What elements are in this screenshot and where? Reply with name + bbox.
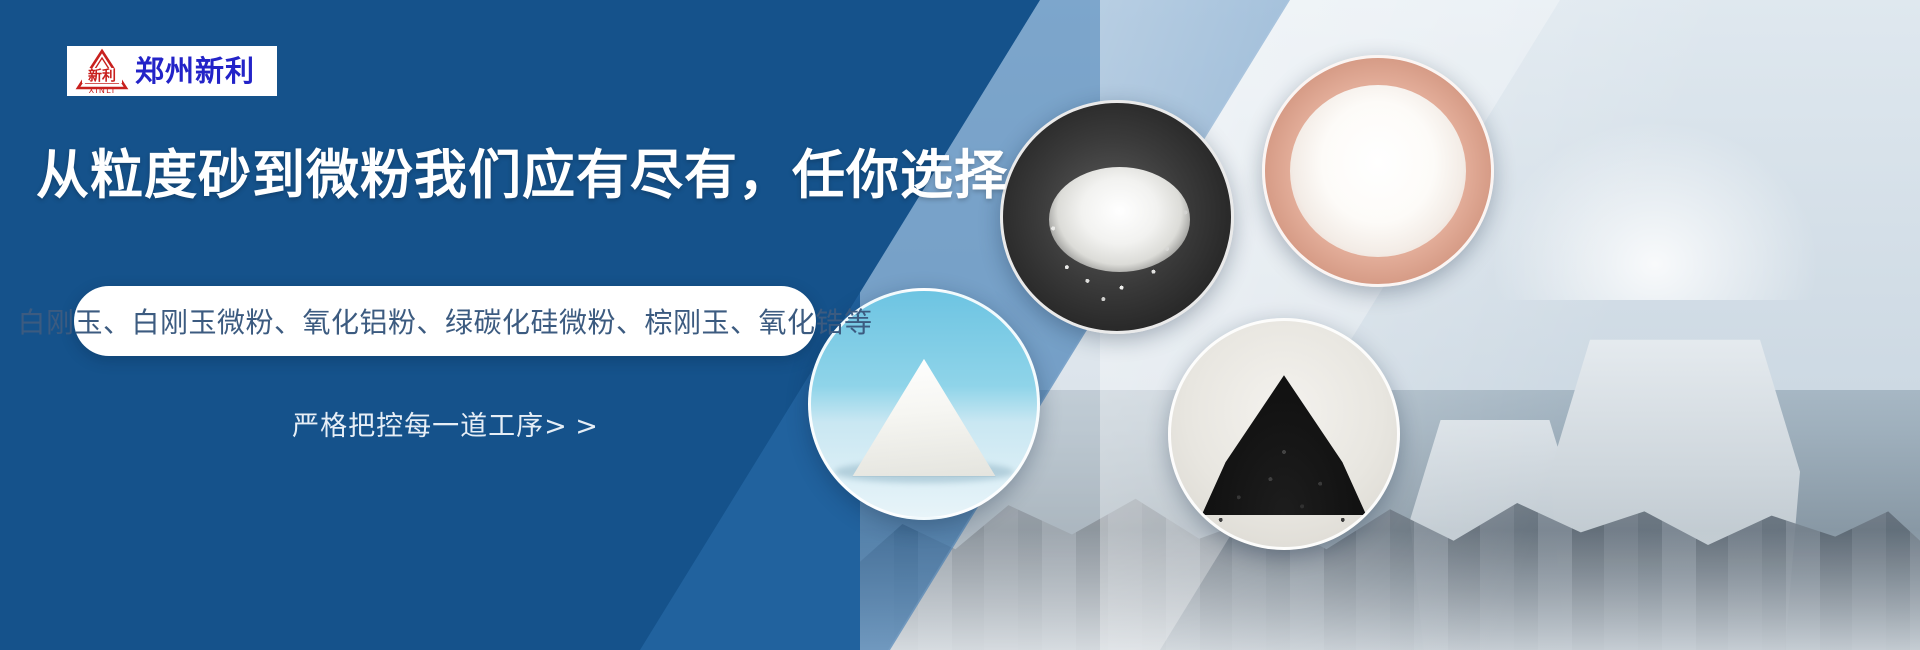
- page-title: 从粒度砂到微粉我们应有尽有，任你选择: [36, 146, 1008, 205]
- product-photo-white-powder-in-dish: [1262, 55, 1494, 287]
- tagline-arrows-icon: > >: [544, 411, 598, 442]
- svg-text:XINLI: XINLI: [89, 86, 116, 94]
- company-logo[interactable]: 新利 XINLI 郑州新利: [67, 46, 277, 96]
- xinli-triangle-mark-icon: 新利 XINLI: [75, 48, 129, 94]
- product-photo-black-granules-heap: [1168, 318, 1400, 550]
- granule-specks: [1003, 103, 1231, 331]
- black-granule-texture: [1171, 321, 1397, 547]
- logo-company-name: 郑州新利: [135, 57, 255, 86]
- powder-heap: [1290, 85, 1466, 257]
- promo-banner: 新利 XINLI 郑州新利 从粒度砂到微粉我们应有尽有，任你选择 白刚玉、白刚玉…: [0, 0, 1920, 650]
- tagline[interactable]: 严格把控每一道工序> >: [74, 404, 816, 443]
- product-photo-white-granules-on-dark-tray: [1000, 100, 1234, 334]
- product-list-pill: 白刚玉、白刚玉微粉、氧化铝粉、绿碳化硅微粉、棕刚玉、氧化锆等: [74, 286, 816, 356]
- tagline-text: 严格把控每一道工序: [292, 411, 544, 442]
- svg-text:新利: 新利: [88, 68, 116, 85]
- powder-cone: [843, 359, 1006, 477]
- product-list-text: 白刚玉、白刚玉微粉、氧化铝粉、绿碳化硅微粉、棕刚玉、氧化锆等: [18, 301, 873, 341]
